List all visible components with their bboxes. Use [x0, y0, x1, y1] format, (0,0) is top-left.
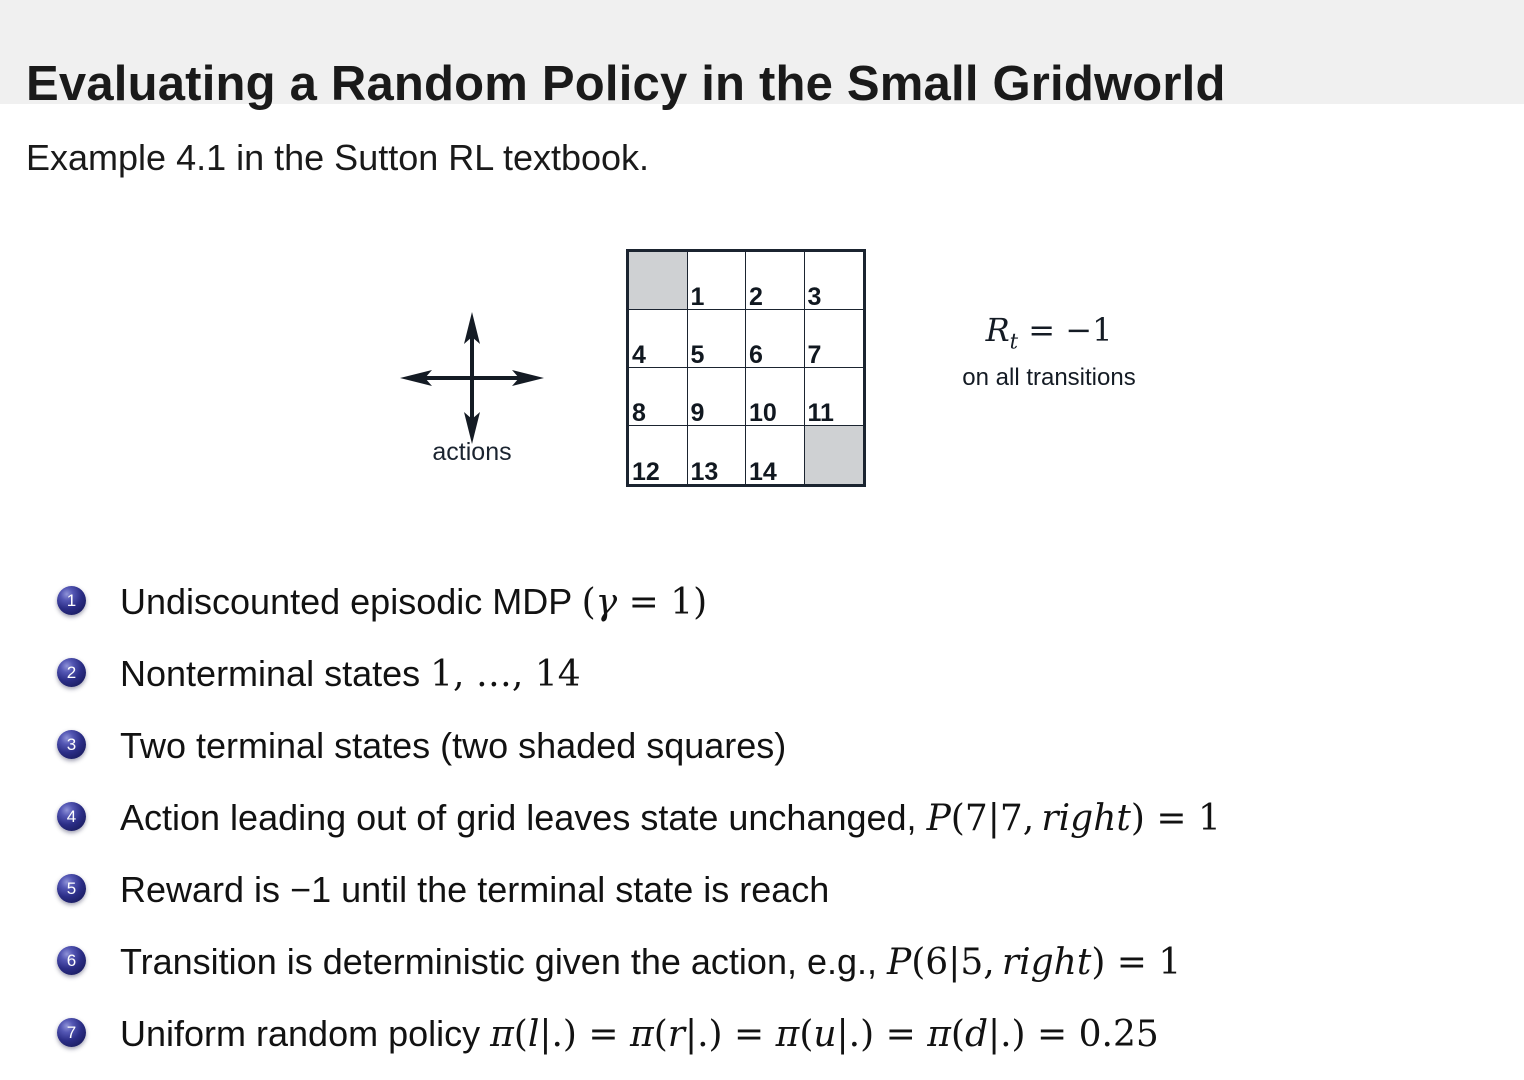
grid-cell-label: 12	[632, 460, 660, 485]
bullet-marker-4: 4	[57, 802, 86, 831]
grid-cell-2: 2	[746, 252, 805, 310]
grid-cell-13: 13	[688, 426, 747, 484]
list-item-text-6: Transition is deterministic given the ac…	[120, 935, 1524, 988]
grid-cell-label: 7	[808, 343, 822, 368]
list-item: 1 Undiscounted episodic MDP (γ = 1)	[0, 575, 1524, 647]
list-item-text-4: Action leading out of grid leaves state …	[120, 791, 1524, 844]
grid-cell-label: 6	[749, 343, 763, 368]
reward-symbol: R	[986, 311, 1010, 349]
grid-cell-terminal-bottom-right	[805, 426, 864, 484]
grid-cell-label: 10	[749, 401, 777, 426]
gridworld-grid: 1 2 3 4 5 6 7 8 9 10 11	[626, 249, 866, 487]
grid-cell-label: 14	[749, 460, 777, 485]
grid-cell-6: 6	[746, 310, 805, 368]
list-item: 3 Two terminal states (two shaded square…	[0, 719, 1524, 791]
list-item-text-3: Two terminal states (two shaded squares)	[120, 719, 1524, 771]
grid-cell-label: 8	[632, 401, 646, 426]
grid-cell-label: 13	[691, 460, 719, 485]
grid-cell-11: 11	[805, 368, 864, 426]
grid-cell-label: 1	[691, 285, 705, 310]
list-item-text-2: Nonterminal states 1, …, 14	[120, 647, 1524, 700]
grid-cell-10: 10	[746, 368, 805, 426]
grid-cell-5: 5	[688, 310, 747, 368]
enumerated-list: 1 Undiscounted episodic MDP (γ = 1) 2 No…	[0, 575, 1524, 1079]
grid-cell-terminal-top-left	[629, 252, 688, 310]
subtitle-text: Example 4.1 in the Sutton RL textbook.	[26, 134, 649, 182]
reward-value: = −1	[1018, 311, 1112, 349]
header-band: Evaluating a Random Policy in the Small …	[0, 0, 1524, 104]
actions-label: actions	[396, 438, 548, 467]
grid-cell-8: 8	[629, 368, 688, 426]
list-item: 4 Action leading out of grid leaves stat…	[0, 791, 1524, 863]
grid-cell-7: 7	[805, 310, 864, 368]
four-way-arrow-cross-icon	[396, 310, 548, 446]
reward-caption: on all transitions	[916, 363, 1182, 393]
list-item: 5 Reward is −1 until the terminal state …	[0, 863, 1524, 935]
bullet-marker-1: 1	[57, 586, 86, 615]
bullet-marker-6: 6	[57, 946, 86, 975]
grid-cell-label: 3	[808, 285, 822, 310]
grid-cell-9: 9	[688, 368, 747, 426]
list-item-text-5: Reward is −1 until the terminal state is…	[120, 863, 1524, 915]
grid-cell-label: 9	[691, 401, 705, 426]
list-item: 7 Uniform random policy π(l|.) = π(r|.) …	[0, 1007, 1524, 1079]
list-item: 6 Transition is deterministic given the …	[0, 935, 1524, 1007]
grid-cell-14: 14	[746, 426, 805, 484]
list-item-text-7: Uniform random policy π(l|.) = π(r|.) = …	[120, 1007, 1524, 1060]
list-item-text-1: Undiscounted episodic MDP (γ = 1)	[120, 575, 1524, 628]
bullet-marker-7: 7	[57, 1018, 86, 1047]
bullet-marker-2: 2	[57, 658, 86, 687]
reward-formula: Rt = −1	[916, 310, 1182, 361]
grid-cell-label: 2	[749, 285, 763, 310]
reward-subscript: t	[1010, 329, 1018, 353]
page-title: Evaluating a Random Policy in the Small …	[26, 53, 1226, 115]
list-item: 2 Nonterminal states 1, …, 14	[0, 647, 1524, 719]
grid-cell-4: 4	[629, 310, 688, 368]
grid-cell-3: 3	[805, 252, 864, 310]
actions-diagram: actions	[396, 310, 548, 470]
bullet-marker-3: 3	[57, 730, 86, 759]
grid-cell-1: 1	[688, 252, 747, 310]
reward-annotation: Rt = −1 on all transitions	[916, 310, 1182, 393]
grid-cell-label: 11	[808, 401, 834, 426]
gridworld-figure: actions 1 2 3 4 5 6 7 8 9	[0, 230, 1524, 520]
grid-cell-label: 5	[691, 343, 705, 368]
bullet-marker-5: 5	[57, 874, 86, 903]
grid-cell-label: 4	[632, 343, 646, 368]
grid-cell-12: 12	[629, 426, 688, 484]
